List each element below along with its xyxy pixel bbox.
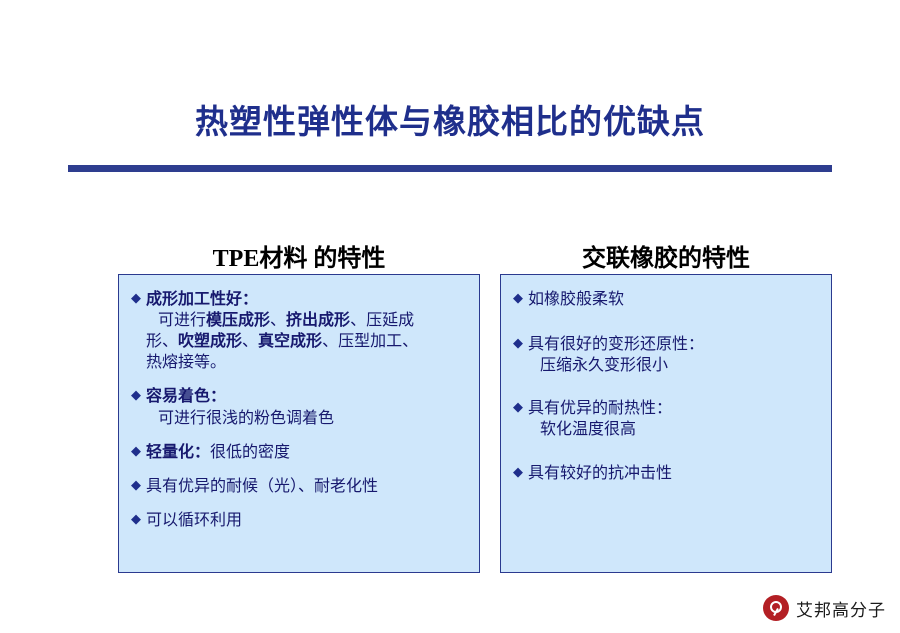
list-item-inline: 具有较好的抗冲击性 [528, 463, 821, 484]
seg-bold: 吹塑成形 [178, 333, 242, 350]
seg: 可进行 [158, 312, 206, 329]
diamond-bullet-icon: ◆ [131, 386, 141, 405]
list-item-subline: 形、吹塑成形、真空成形、压型加工、 [146, 331, 469, 352]
list-item-lead: 轻量化： [146, 444, 210, 461]
diamond-bullet-icon: ◆ [131, 442, 141, 461]
right-content-box: ◆ 如橡胶般柔软 ◆ 具有很好的变形还原性： 压缩永久变形很小 ◆ 具有优异的耐… [500, 274, 832, 573]
diamond-bullet-icon: ◆ [131, 476, 141, 495]
diamond-bullet-icon: ◆ [513, 289, 523, 308]
list-item-subline: 软化温度很高 [528, 419, 821, 440]
list-item-inline: 很低的密度 [210, 444, 290, 461]
list-item-text: 轻量化：很低的密度 [146, 442, 469, 463]
slide-canvas: 热塑性弹性体与橡胶相比的优缺点 TPE材料 的特性 交联橡胶的特性 ◆ 成形加工… [0, 0, 900, 633]
right-column-heading: 交联橡胶的特性 [500, 238, 832, 273]
list-item-text: 具有优异的耐热性： 软化温度很高 [528, 398, 821, 440]
magnifier-icon [763, 595, 789, 621]
list-item-lead: 成形加工性好： [146, 291, 258, 308]
diamond-bullet-icon: ◆ [513, 334, 523, 353]
diamond-bullet-icon: ◆ [513, 398, 523, 417]
seg: 形、 [146, 333, 178, 350]
watermark-label: 艾邦高分子 [796, 596, 886, 621]
seg-bold: 挤出成形 [286, 312, 350, 329]
seg: 、 [242, 333, 258, 350]
left-heading-rest: 的特性 [307, 246, 385, 272]
list-item: ◆ 具有优异的耐热性： 软化温度很高 [513, 398, 821, 440]
list-item-inline: 可以循环利用 [146, 510, 469, 531]
list-item-subline: 热熔接等。 [146, 352, 469, 373]
list-item: ◆ 具有很好的变形还原性： 压缩永久变形很小 [513, 334, 821, 376]
list-item-subline: 可进行模压成形、挤出成形、压延成 [146, 310, 469, 331]
list-item-text: 容易着色： 可进行很浅的粉色调着色 [146, 386, 469, 428]
seg: 、压型加工、 [322, 333, 418, 350]
list-item: ◆ 具有较好的抗冲击性 [513, 463, 821, 484]
list-item: ◆ 成形加工性好： 可进行模压成形、挤出成形、压延成 形、吹塑成形、真空成形、压… [131, 289, 469, 373]
list-item-inline: 具有优异的耐候（光）、耐老化性 [146, 476, 469, 497]
diamond-bullet-icon: ◆ [131, 510, 141, 529]
seg: 、 [270, 312, 286, 329]
list-item: ◆ 可以循环利用 [131, 510, 469, 531]
slide-title-wrapper: 热塑性弹性体与橡胶相比的优缺点 [0, 104, 900, 144]
left-box-inner: ◆ 成形加工性好： 可进行模压成形、挤出成形、压延成 形、吹塑成形、真空成形、压… [119, 275, 479, 541]
right-box-inner: ◆ 如橡胶般柔软 ◆ 具有很好的变形还原性： 压缩永久变形很小 ◆ 具有优异的耐… [501, 275, 831, 494]
diamond-bullet-icon: ◆ [131, 289, 141, 308]
seg-bold: 真空成形 [258, 333, 322, 350]
left-heading-bold: TPE材料 [213, 246, 308, 272]
list-item: ◆ 如橡胶般柔软 [513, 289, 821, 310]
list-item-subline: 压缩永久变形很小 [528, 355, 821, 376]
list-item-text: 成形加工性好： 可进行模压成形、挤出成形、压延成 形、吹塑成形、真空成形、压型加… [146, 289, 469, 373]
list-item: ◆ 具有优异的耐候（光）、耐老化性 [131, 476, 469, 497]
list-item: ◆ 轻量化：很低的密度 [131, 442, 469, 463]
list-item-text: 具有很好的变形还原性： 压缩永久变形很小 [528, 334, 821, 376]
left-content-box: ◆ 成形加工性好： 可进行模压成形、挤出成形、压延成 形、吹塑成形、真空成形、压… [118, 274, 480, 573]
title-divider [68, 165, 832, 172]
list-item-inline: 具有优异的耐热性： [528, 400, 672, 417]
list-item-lead: 容易着色： [146, 388, 226, 405]
list-item-inline: 如橡胶般柔软 [528, 289, 821, 310]
list-item-inline: 具有很好的变形还原性： [528, 336, 704, 353]
seg: 、压延成 [350, 312, 414, 329]
left-column-heading: TPE材料 的特性 [118, 238, 480, 273]
watermark-logo: 艾邦高分子 [763, 595, 886, 621]
list-item-subline: 可进行很浅的粉色调着色 [146, 408, 469, 429]
page-title: 热塑性弹性体与橡胶相比的优缺点 [0, 104, 900, 144]
seg-bold: 模压成形 [206, 312, 270, 329]
list-item: ◆ 容易着色： 可进行很浅的粉色调着色 [131, 386, 469, 428]
diamond-bullet-icon: ◆ [513, 463, 523, 482]
